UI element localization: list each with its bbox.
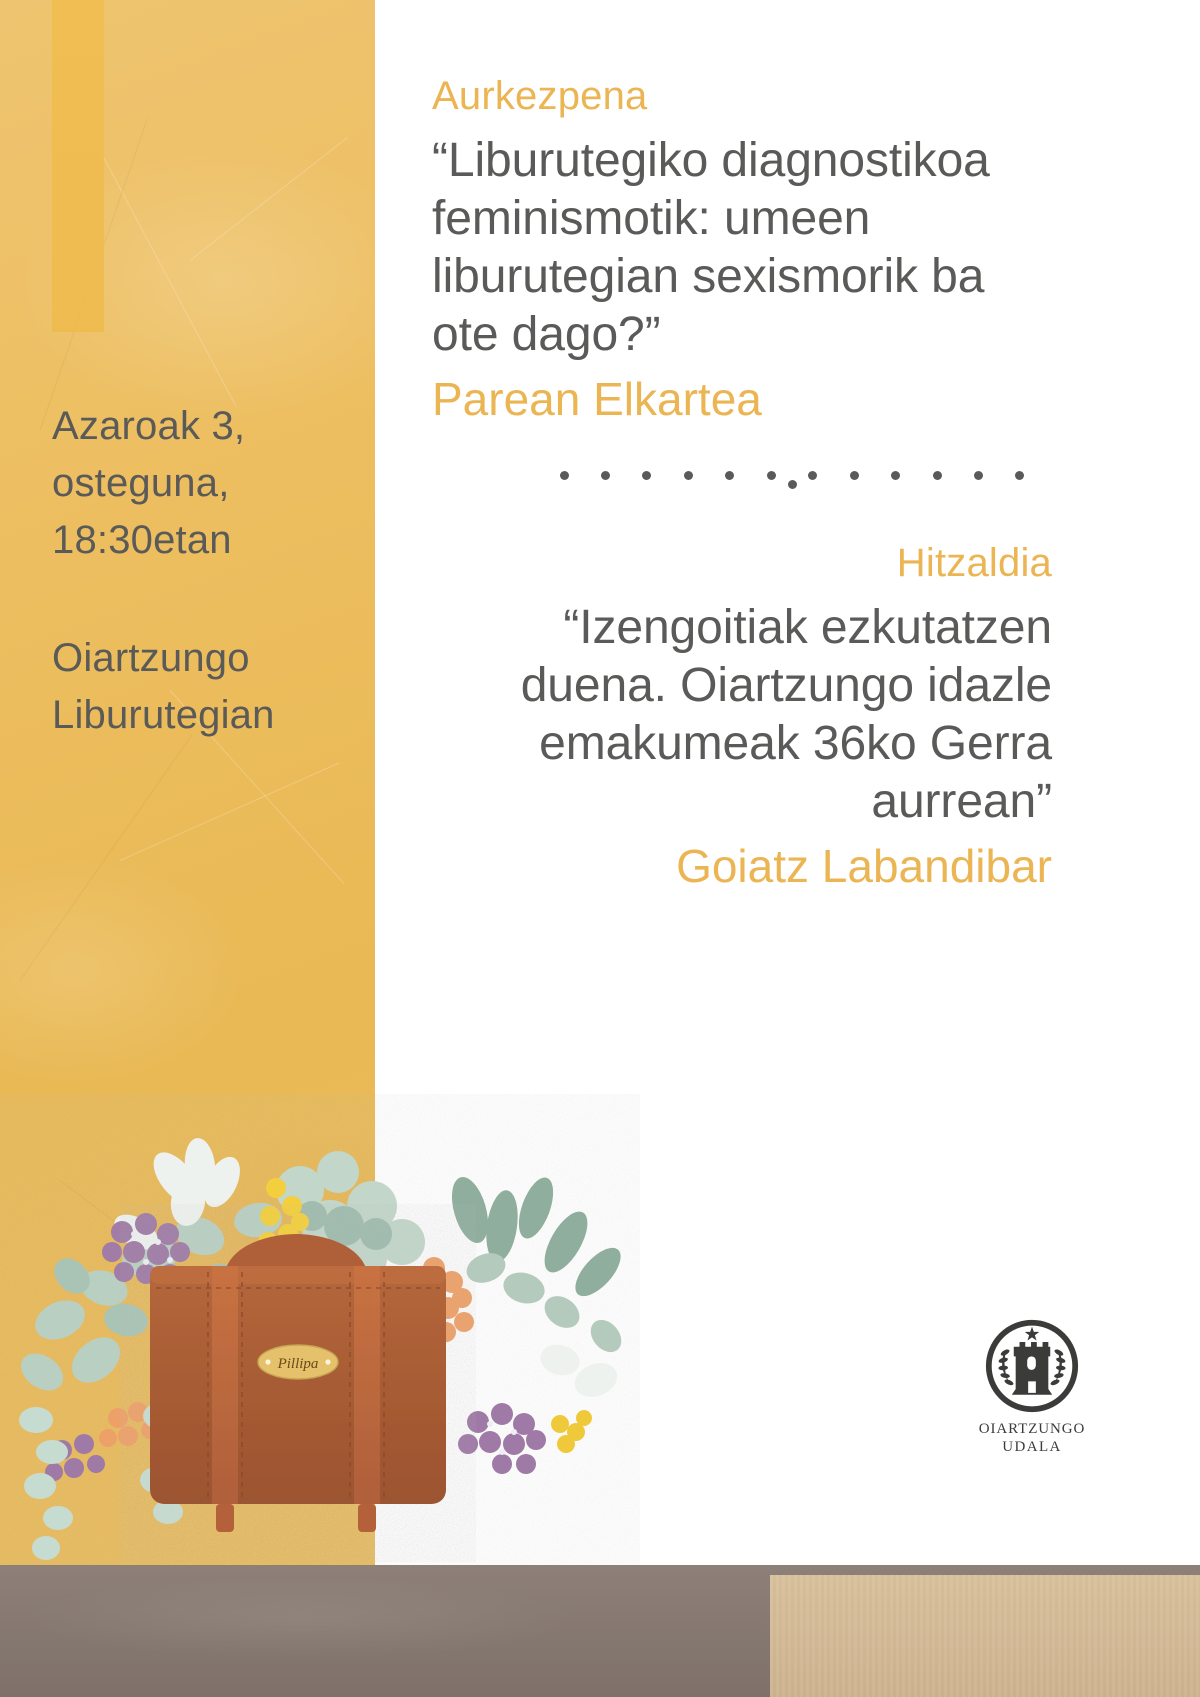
oiartzungo-udala-logo: OIARTZUNGO UDALA — [968, 1318, 1096, 1457]
logo-line-1: OIARTZUNGO — [968, 1420, 1096, 1438]
paper-crease — [120, 762, 340, 861]
paper-crease — [100, 150, 237, 407]
section-kicker-aurkezpena: Aurkezpena — [432, 74, 1052, 118]
divider-dot — [974, 471, 983, 480]
papercraft-suitcase: Pillipa — [150, 1234, 446, 1532]
suitcase-label: Pillipa — [277, 1356, 319, 1372]
section-title-aurkezpena: “Liburutegiko diagnostikoa feminismotik:… — [432, 132, 1052, 364]
divider-dot — [642, 471, 651, 480]
divider-dot — [684, 471, 693, 480]
papercraft-illustration: Pillipa — [0, 1020, 640, 1580]
logo-wordmark: OIARTZUNGO UDALA — [968, 1420, 1096, 1457]
divider-dot — [725, 471, 734, 480]
paper-crease — [190, 137, 348, 261]
section-speaker-aurkezpena: Parean Elkartea — [432, 372, 1052, 426]
divider-dot — [560, 471, 569, 480]
program-column: Aurkezpena “Liburutegiko diagnostikoa fe… — [432, 74, 1052, 893]
paper-crease — [20, 734, 193, 980]
event-details: Azaroak 3, osteguna, 18:30etan Oiartzung… — [52, 398, 352, 744]
event-venue: Oiartzungo Liburutegian — [52, 630, 352, 744]
kraft-paper-block — [770, 1575, 1200, 1697]
divider-dot — [788, 480, 797, 489]
divider-dot — [1015, 471, 1024, 480]
divider-dot — [601, 471, 610, 480]
section-speaker-hitzaldia: Goiatz Labandibar — [432, 839, 1052, 893]
program-section-lecture: Hitzaldia “Izengoitiak ezkutatzen duena.… — [432, 541, 1052, 894]
divider-dot — [850, 471, 859, 480]
divider-dot — [891, 471, 900, 480]
section-kicker-hitzaldia: Hitzaldia — [432, 541, 1052, 585]
udala-seal-icon — [984, 1318, 1080, 1414]
section-title-hitzaldia: “Izengoitiak ezkutatzen duena. Oiartzung… — [432, 599, 1052, 831]
divider-dot — [767, 471, 776, 480]
logo-line-2: UDALA — [968, 1438, 1096, 1456]
vertical-accent-bar — [52, 0, 104, 332]
poster-canvas: Azaroak 3, osteguna, 18:30etan Oiartzung… — [0, 0, 1200, 1697]
divider-dot — [933, 471, 942, 480]
event-date-time: Azaroak 3, osteguna, 18:30etan — [52, 398, 352, 568]
program-section-presentation: Aurkezpena “Liburutegiko diagnostikoa fe… — [432, 74, 1052, 427]
dotted-divider — [432, 471, 1052, 489]
divider-dot — [808, 471, 817, 480]
